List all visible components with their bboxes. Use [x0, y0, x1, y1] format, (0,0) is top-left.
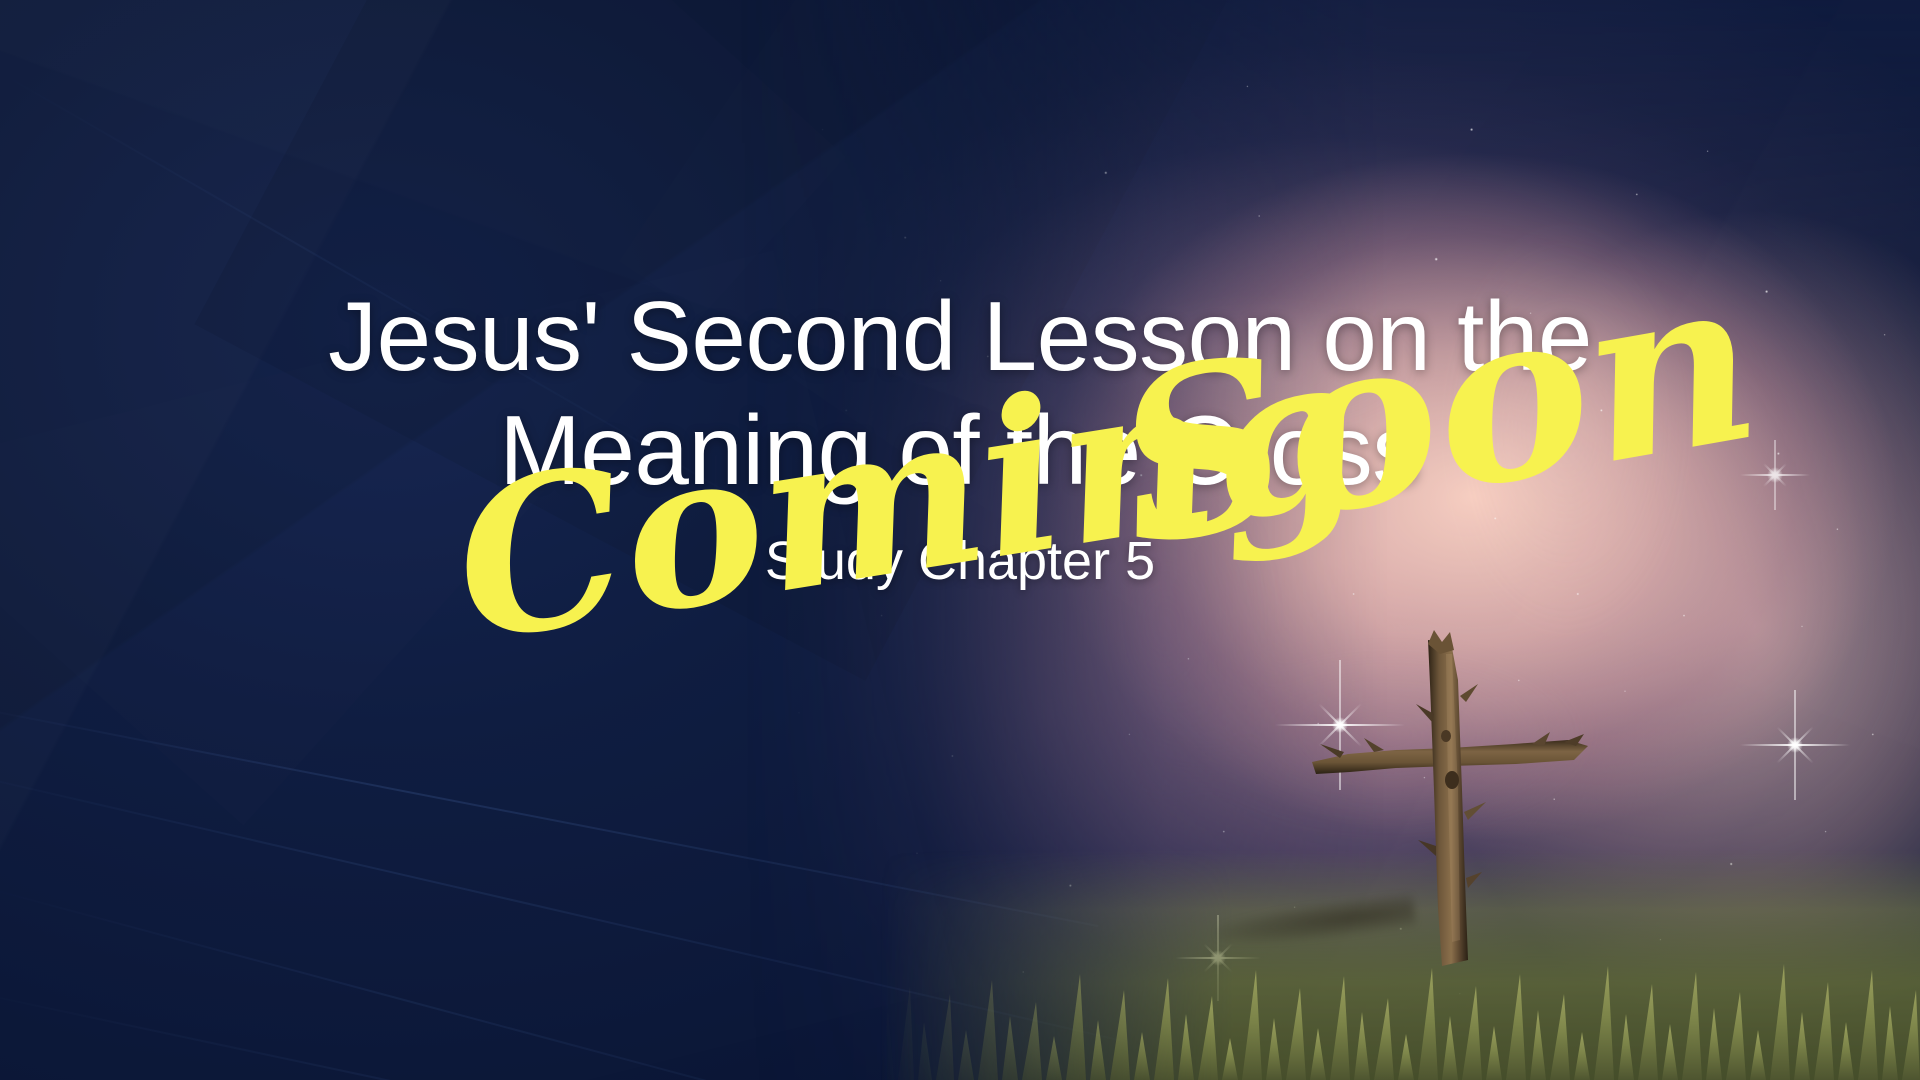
presentation-slide: Jesus' Second Lesson on the Meaning of t…	[0, 0, 1920, 1080]
slide-subtitle: Study Chapter 5	[765, 529, 1155, 594]
slide-title: Jesus' Second Lesson on the Meaning of t…	[130, 280, 1790, 507]
slide-text-block: Jesus' Second Lesson on the Meaning of t…	[0, 0, 1920, 1080]
